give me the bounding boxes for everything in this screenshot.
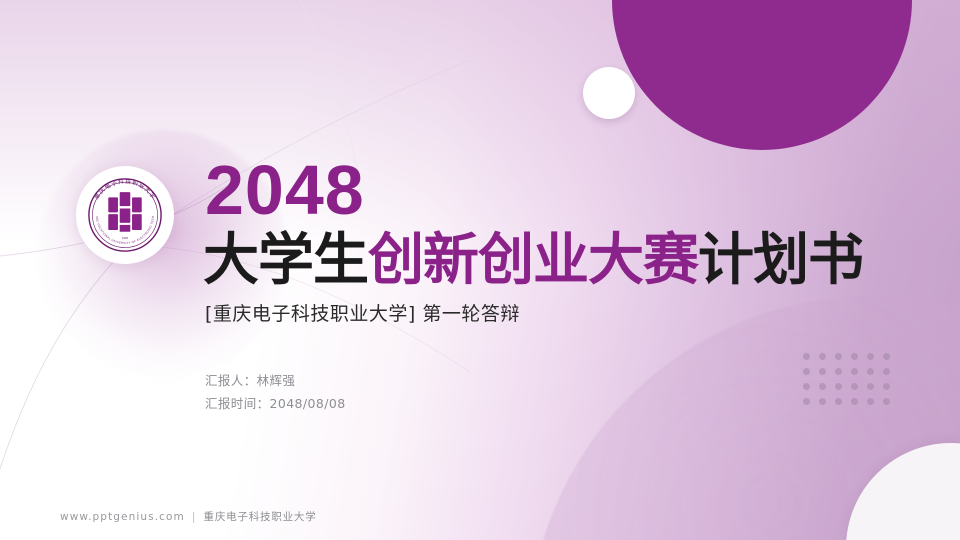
title-part-1: 大学生	[203, 228, 368, 293]
page-title: 大学生创新创业大赛计划书	[203, 232, 863, 291]
footer-website: www.pptgenius.com	[60, 511, 185, 523]
university-logo: 重庆电子科技职业大学 CHONGQING VOCATIONAL UNIVERSI…	[76, 166, 174, 264]
decorative-dot-grid	[803, 353, 899, 413]
footer-separator: |	[192, 511, 197, 523]
title-part-3: 计划书	[698, 228, 863, 293]
university-seal-icon: 重庆电子科技职业大学 CHONGQING VOCATIONAL UNIVERSI…	[81, 171, 169, 259]
title-part-2: 创新创业大赛	[368, 228, 698, 293]
slide-footer: www.pptgenius.com|重庆电子科技职业大学	[60, 509, 317, 524]
presentation-title-slide: 重庆电子科技职业大学 CHONGQING VOCATIONAL UNIVERSI…	[0, 0, 960, 540]
svg-text:1965: 1965	[122, 236, 129, 240]
decorative-white-dot-circle	[583, 67, 635, 119]
presentation-meta: 汇报人：林辉强 汇报时间：2048/08/08	[205, 369, 346, 415]
page-subtitle: [重庆电子科技职业大学] 第一轮答辩	[205, 299, 520, 326]
year-heading: 2048	[205, 155, 365, 225]
footer-organization: 重庆电子科技职业大学	[204, 511, 317, 523]
presenter-line: 汇报人：林辉强	[205, 369, 346, 392]
date-line: 汇报时间：2048/08/08	[205, 392, 346, 415]
